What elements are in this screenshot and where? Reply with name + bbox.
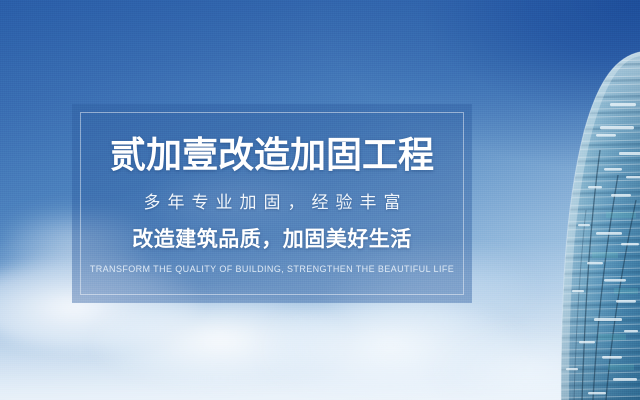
page-title: 贰加壹改造加固工程 [110, 135, 434, 175]
english-caption-text: TRANSFORM THE QUALITY OF BUILDING, STREN… [90, 263, 454, 275]
hero-text-panel: 贰加壹改造加固工程 多年专业加固，经验丰富 改造建筑品质，加固美好生活 TRAN… [72, 104, 472, 303]
tagline-text: 改造建筑品质，加固美好生活 [132, 227, 412, 253]
subtitle-text: 多年专业加固，经验丰富 [137, 192, 408, 214]
hero-banner: 贰加壹改造加固工程 多年专业加固，经验丰富 改造建筑品质，加固美好生活 TRAN… [0, 0, 640, 400]
panel-content: 贰加壹改造加固工程 多年专业加固，经验丰富 改造建筑品质，加固美好生活 TRAN… [72, 104, 472, 303]
